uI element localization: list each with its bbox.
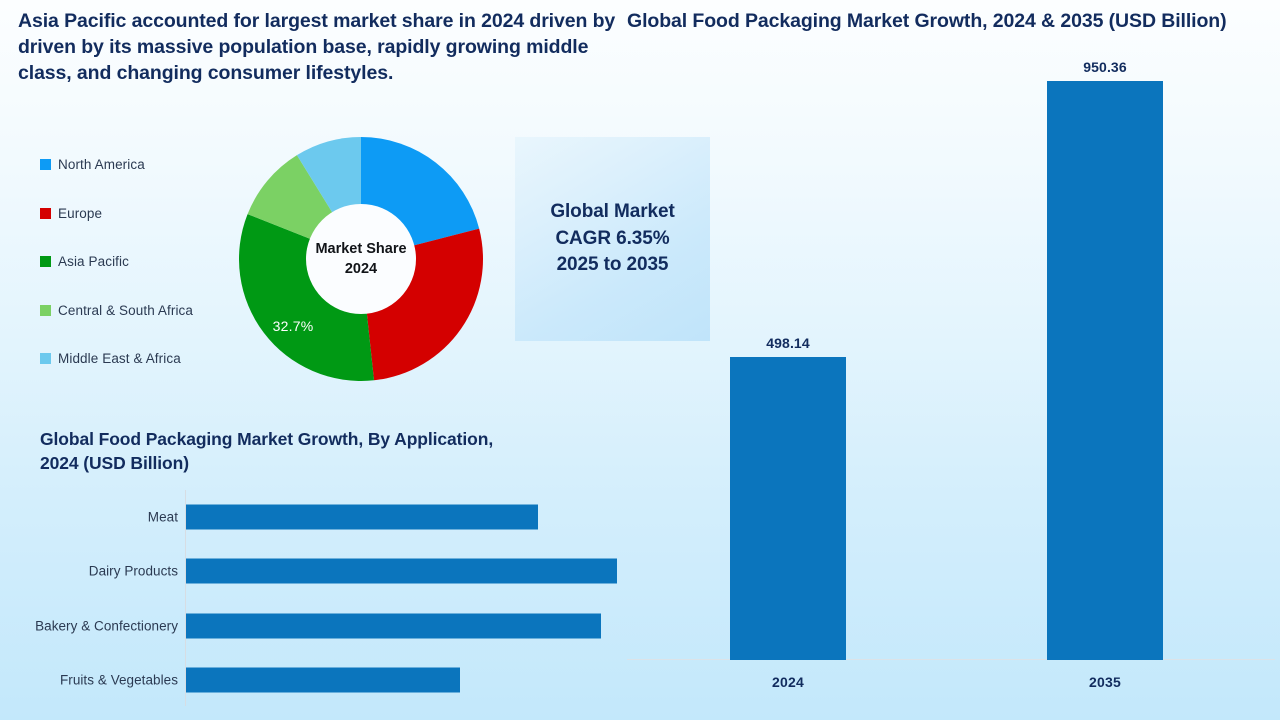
legend-label: Asia Pacific xyxy=(58,254,129,269)
hbar-bar-fruits-vegetables xyxy=(186,668,460,693)
vbar-baseline xyxy=(627,659,1275,660)
legend-swatch-icon xyxy=(40,305,51,316)
vbar-year-label: 2035 xyxy=(1047,674,1163,690)
legend-label: Europe xyxy=(58,206,102,221)
legend-label: Middle East & Africa xyxy=(58,351,181,366)
vbar-year-label: 2024 xyxy=(730,674,846,690)
hbar-category-label: Bakery & Confectionery xyxy=(35,619,178,634)
hbar-category-label: Dairy Products xyxy=(89,564,178,579)
hbar-category-label: Meat xyxy=(148,510,178,525)
vbar-column-2035: 950.36 2035 xyxy=(1047,81,1163,660)
legend-swatch-icon xyxy=(40,159,51,170)
table-row: Dairy Products xyxy=(0,544,640,598)
donut-legend: North America Europe Asia Pacific Centra… xyxy=(40,152,260,395)
legend-label: North America xyxy=(58,157,145,172)
donut-svg xyxy=(239,137,483,381)
growth-bar-chart: 498.14 2024 950.36 2035 xyxy=(627,60,1275,700)
vbar-column-2024: 498.14 2024 xyxy=(730,357,846,660)
legend-item-north-america: North America xyxy=(40,152,260,177)
legend-label: Central & South Africa xyxy=(58,303,193,318)
headline-text: Asia Pacific accounted for largest marke… xyxy=(18,8,618,86)
growth-chart-title: Global Food Packaging Market Growth, 202… xyxy=(627,8,1227,34)
table-row: Fruits & Vegetables xyxy=(0,653,640,707)
vbar-rect xyxy=(730,357,846,660)
legend-item-central-south-africa: Central & South Africa xyxy=(40,298,260,323)
legend-swatch-icon xyxy=(40,353,51,364)
legend-item-middle-east-africa: Middle East & Africa xyxy=(40,346,260,371)
legend-item-asia-pacific: Asia Pacific xyxy=(40,249,260,274)
hbar-category-label: Fruits & Vegetables xyxy=(60,673,178,688)
hbar-bar-meat xyxy=(186,505,538,530)
vbar-rect xyxy=(1047,81,1163,660)
donut-hole xyxy=(306,204,416,314)
table-row: Meat xyxy=(0,490,640,544)
table-row: Bakery & Confectionery xyxy=(0,599,640,653)
vbar-value-label: 498.14 xyxy=(730,335,846,351)
hbar-bar-dairy-products xyxy=(186,559,617,584)
legend-swatch-icon xyxy=(40,256,51,267)
legend-swatch-icon xyxy=(40,208,51,219)
application-chart-title: Global Food Packaging Market Growth, By … xyxy=(40,428,510,475)
legend-item-europe: Europe xyxy=(40,201,260,226)
donut-highlight-percent: 32.7% xyxy=(268,318,318,334)
market-share-donut-chart: Market Share 2024 xyxy=(239,137,483,381)
infographic-canvas: Asia Pacific accounted for largest marke… xyxy=(0,0,1280,720)
vbar-value-label: 950.36 xyxy=(1047,59,1163,75)
application-bar-chart: Meat Dairy Products Bakery & Confectione… xyxy=(0,490,640,706)
hbar-bar-bakery-confectionery xyxy=(186,614,601,639)
